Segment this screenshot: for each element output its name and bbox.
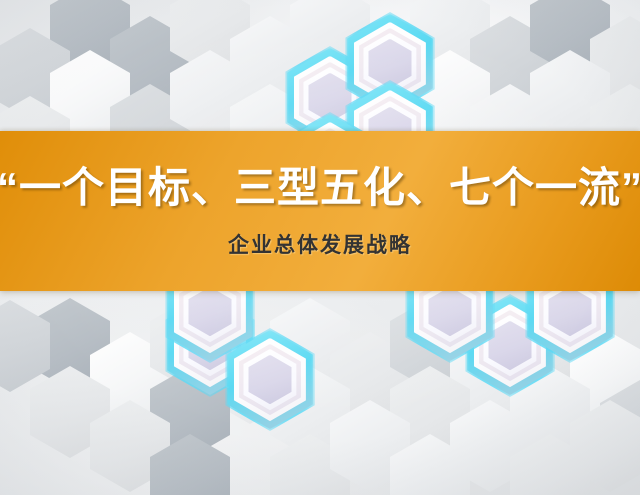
title-banner: “一个目标、三型五化、七个一流” 企业总体发展战略	[0, 131, 640, 291]
banner-title: “一个目标、三型五化、七个一流”	[0, 165, 640, 215]
presentation-slide: “一个目标、三型五化、七个一流” 企业总体发展战略	[0, 0, 640, 495]
banner-subtitle: 企业总体发展战略	[228, 234, 412, 257]
